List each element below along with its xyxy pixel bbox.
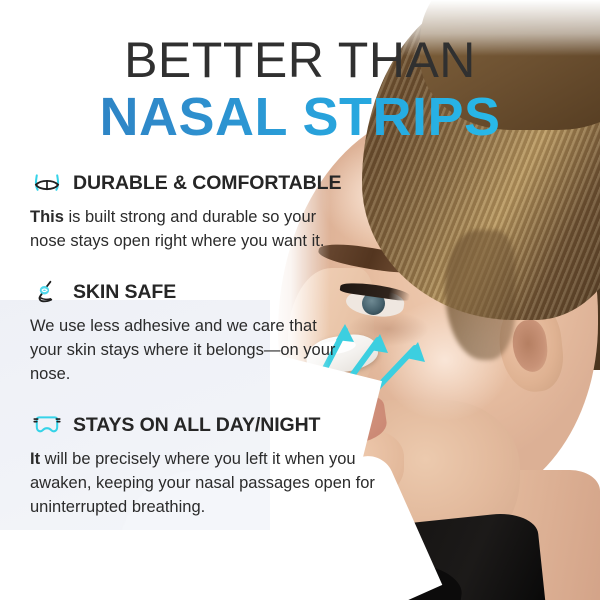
feature-description: It will be precisely where you left it w… <box>30 447 378 519</box>
feature-title: DURABLE & COMFORTABLE <box>73 172 341 194</box>
feature-title: STAYS ON ALL DAY/NIGHT <box>73 414 320 436</box>
feature-body-text: will be precisely where you left it when… <box>30 450 375 516</box>
feature-heading: SKIN SAFE <box>30 279 390 305</box>
feature-title: SKIN SAFE <box>73 281 176 303</box>
feature-description: This is built strong and durable so your… <box>30 205 350 253</box>
feature-description: We use less adhesive and we care that yo… <box>30 314 350 386</box>
feature-lead-word: This <box>30 208 64 226</box>
product-feature-poster: BETTER THAN NASAL STRIPS DURABLE & COMFO… <box>0 0 600 600</box>
feature-heading: STAYS ON ALL DAY/NIGHT <box>30 412 390 438</box>
headline-line-2: NASAL STRIPS <box>0 88 600 146</box>
feature-heading: DURABLE & COMFORTABLE <box>30 170 390 196</box>
sleep-mask-icon <box>30 412 64 438</box>
feature-item-durable-comfortable: DURABLE & COMFORTABLE This is built stro… <box>0 170 390 253</box>
feature-lead-word: It <box>30 450 40 468</box>
feature-item-skin-safe: SKIN SAFE We use less adhesive and we ca… <box>0 279 390 386</box>
nose-profile-strip-icon <box>30 279 64 305</box>
feature-list: DURABLE & COMFORTABLE This is built stro… <box>0 170 390 545</box>
feature-item-stays-on: STAYS ON ALL DAY/NIGHT It will be precis… <box>0 412 390 519</box>
headline-line-1: BETTER THAN <box>0 32 600 88</box>
nose-dilator-front-icon <box>30 170 64 196</box>
feature-body-text: is built strong and durable so your nose… <box>30 208 324 250</box>
headline: BETTER THAN NASAL STRIPS <box>0 32 600 146</box>
